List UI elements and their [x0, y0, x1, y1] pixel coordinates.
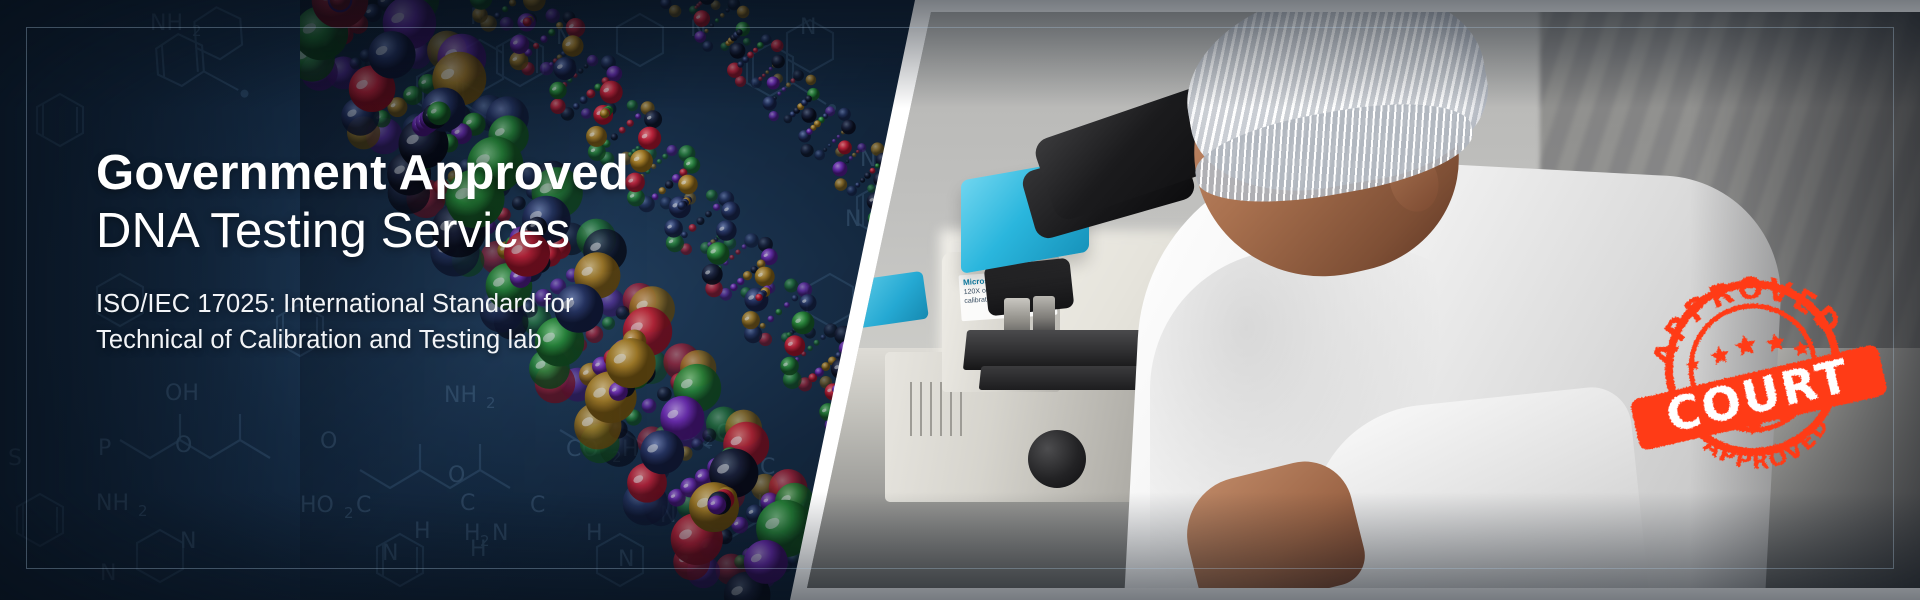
headline-line-1: Government Approved — [96, 146, 796, 201]
dna-testing-banner: NH2 N N N NH2 OH S NH2 P O O O HO2C CO2H… — [0, 0, 1920, 600]
headline-block: Government Approved DNA Testing Services… — [96, 146, 796, 358]
subtitle-block: ISO/IEC 17025: International Standard fo… — [96, 286, 796, 358]
subtitle-line-2: Technical of Calibration and Testing lab — [96, 322, 796, 358]
subtitle-line-1: ISO/IEC 17025: International Standard fo… — [96, 286, 796, 322]
headline-line-2: DNA Testing Services — [96, 203, 796, 260]
